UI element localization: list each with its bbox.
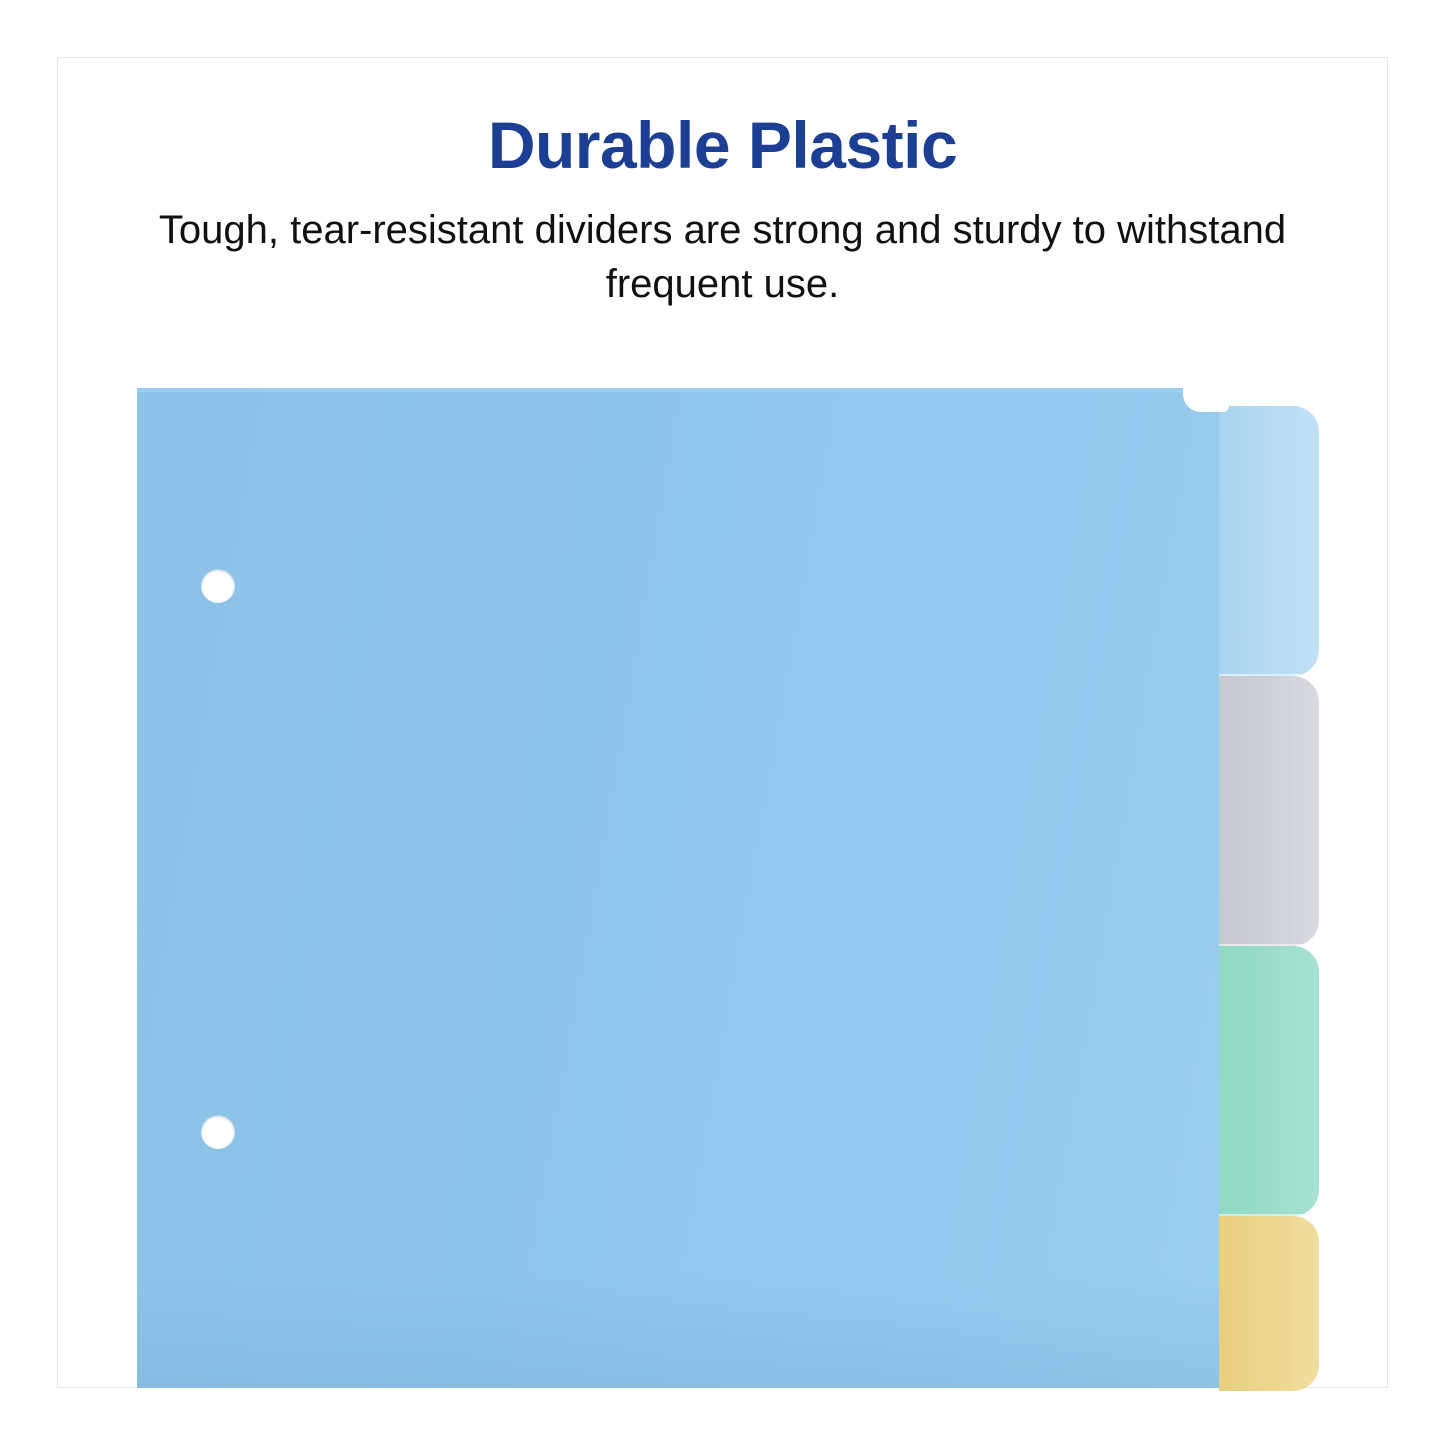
tab-gray	[1219, 676, 1319, 946]
sheet-corner-notch	[1183, 388, 1229, 412]
tab-green	[1219, 946, 1319, 1216]
tab-green-surface	[1219, 946, 1319, 1216]
sheet-top-edge	[137, 388, 1227, 392]
product-photo	[137, 388, 1387, 1388]
page-title: Durable Plastic	[58, 112, 1387, 178]
divider-sheet	[137, 388, 1227, 1388]
tab-blue-surface	[1219, 406, 1319, 676]
sheet-shadow	[137, 1278, 1227, 1388]
product-image-card: Durable Plastic Tough, tear-resistant di…	[57, 57, 1388, 1388]
punch-hole-bottom	[201, 1115, 235, 1149]
tab-yellow-surface	[1219, 1216, 1319, 1391]
tab-blue	[1219, 406, 1319, 676]
page-subtitle: Tough, tear-resistant dividers are stron…	[133, 203, 1313, 311]
punch-hole-top	[201, 569, 235, 603]
tab-gray-surface	[1219, 676, 1319, 946]
tab-yellow	[1219, 1216, 1319, 1391]
